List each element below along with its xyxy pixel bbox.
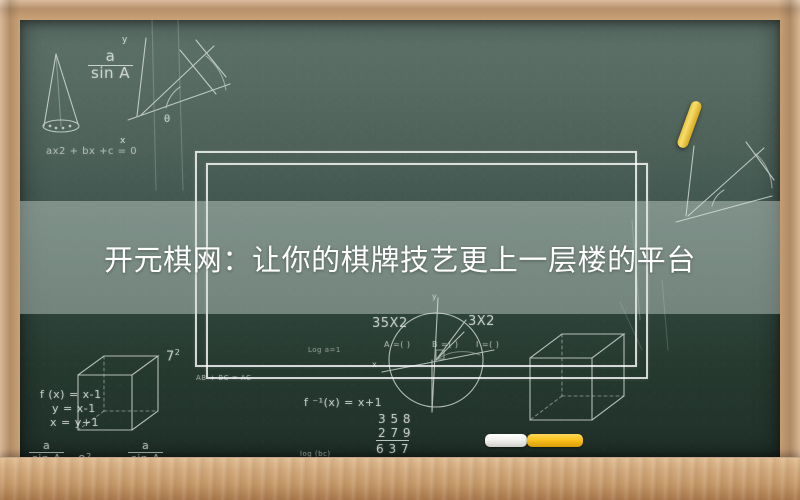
chalk-fx-line2: y = x-1 — [52, 402, 96, 415]
chalk-seven-exp: 2 — [175, 348, 181, 357]
chalkboard-banner: a sin A y x θ ax2 + bx +c = 0 f (x) = x-… — [0, 0, 800, 500]
chalk-sum-result: 6 3 7 — [376, 440, 409, 456]
chalk-sum-row2: 2 7 9 — [378, 426, 411, 440]
chalk-fraction-a-sinA-bottomleft: a sin A — [29, 440, 64, 458]
fraction-numerator: a — [29, 440, 64, 453]
chalk-sum-row1: 3 5 8 — [378, 412, 411, 426]
chalk-fx-line3: x = y+1 — [50, 416, 99, 429]
chalk-axis-x-topleft: x — [120, 136, 126, 146]
title-container: 开元棋网：让你的棋牌技艺更上一层楼的平台 — [20, 201, 780, 314]
chalk-seven-base: 7 — [166, 349, 175, 364]
chalk-seven-squared: 72 — [166, 348, 180, 364]
yellow-chalk-stick — [527, 434, 583, 447]
fraction-denominator: sin A — [88, 66, 133, 82]
chalk-axis-y-topleft: y — [122, 35, 128, 45]
white-chalk-stick — [485, 434, 527, 447]
chalk-tray — [0, 457, 800, 500]
chalk-fraction-a-sinA-bottomcenter: a sin A — [128, 440, 163, 458]
chalk-angle-theta-topleft: θ — [164, 114, 171, 125]
chalk-fraction-a-sinA-topleft: a sin A — [88, 49, 133, 82]
yellow-chalk-stick-diagonal — [676, 100, 703, 150]
fraction-numerator: a — [88, 49, 133, 66]
chalk-quadratic-equation: ax2 + bx +c = 0 — [46, 146, 137, 157]
chalk-fx-line1: f (x) = x-1 — [40, 388, 102, 401]
page-title: 开元棋网：让你的棋牌技艺更上一层楼的平台 — [104, 237, 696, 279]
chalkboard-surface: a sin A y x θ ax2 + bx +c = 0 f (x) = x-… — [20, 20, 780, 458]
fraction-numerator: a — [128, 440, 163, 453]
chalk-inverse-function: f ⁻¹(x) = x+1 — [304, 396, 382, 409]
